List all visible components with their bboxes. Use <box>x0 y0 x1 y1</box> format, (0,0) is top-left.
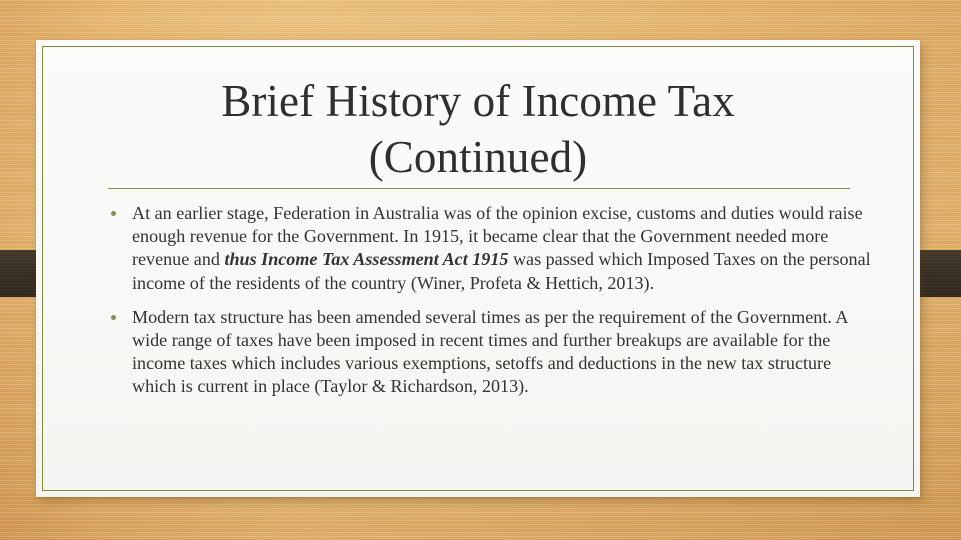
bullet-dot-icon <box>111 211 116 216</box>
list-item-text: At an earlier stage, Federation in Austr… <box>132 202 878 295</box>
text-segment: Modern tax structure has been amended se… <box>132 307 847 397</box>
slide-stage: Brief History of Income Tax (Continued) … <box>0 0 961 540</box>
page-title-line-2: (Continued) <box>369 132 588 182</box>
list-item: Modern tax structure has been amended se… <box>106 306 878 399</box>
page-title-line-1: Brief History of Income Tax <box>221 76 735 126</box>
bullet-list: At an earlier stage, Federation in Austr… <box>106 202 878 399</box>
title-divider <box>108 188 850 189</box>
slide-card: Brief History of Income Tax (Continued) … <box>36 40 920 497</box>
bullet-dot-icon <box>111 315 116 320</box>
text-segment-emphasis: thus Income Tax Assessment Act 1915 <box>224 249 508 269</box>
page-title: Brief History of Income Tax (Continued) <box>108 74 848 186</box>
slide-content: Brief History of Income Tax (Continued) … <box>36 40 920 497</box>
list-item-text: Modern tax structure has been amended se… <box>132 306 878 399</box>
list-item: At an earlier stage, Federation in Austr… <box>106 202 878 295</box>
